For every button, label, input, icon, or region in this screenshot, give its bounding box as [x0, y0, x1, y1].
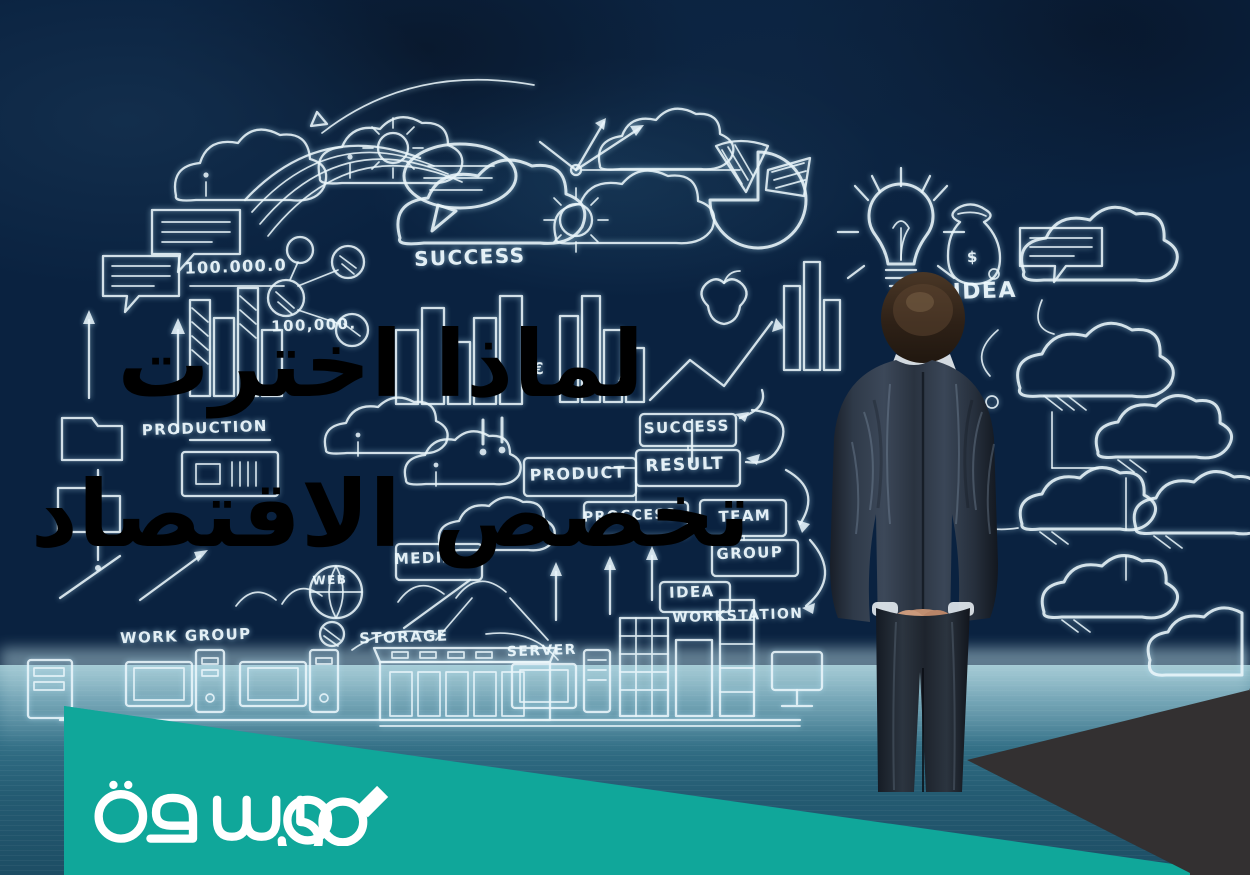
arrow-icon [311, 80, 534, 133]
cloud-icon [1022, 207, 1178, 334]
cloud-icon [1096, 396, 1231, 530]
arrow-icon [540, 118, 740, 175]
cloud-icon [439, 497, 555, 550]
flowchart-box-icon [58, 488, 120, 571]
doodle-label: PRODUCTION [142, 417, 269, 439]
speech-bubble-icon [404, 144, 516, 231]
desktop-computer-icon [240, 650, 338, 712]
logo-dot [124, 781, 132, 789]
doodle-label: WEB [312, 572, 347, 587]
cloud-icon [1134, 472, 1250, 548]
chalk-doodle-layer: SUCCESS100.000.0100,000.PRODUCTIONIDEASU… [0, 0, 1250, 875]
desktop-computer-icon [28, 660, 72, 718]
logo-dot [109, 781, 117, 789]
lightbulb-icon [838, 168, 964, 286]
logo-letter-seen [217, 800, 276, 837]
flowchart-box-icon [182, 440, 278, 496]
doodle-label: SUCCESS [644, 417, 731, 438]
speech-bubble-icon [103, 256, 179, 312]
rainbow-icon [245, 146, 462, 236]
doodle-label: 100.000.0 [184, 255, 287, 278]
doodle-label: PRODUCT [529, 462, 626, 484]
doodle-label: WORKSTATION [672, 606, 804, 627]
pie-chart-icon [710, 141, 810, 248]
cloud-icon [1042, 556, 1177, 632]
businessman-figure [812, 272, 1034, 792]
arrow-icon [83, 310, 95, 398]
doodle-label: WORK GROUP [120, 625, 252, 648]
desktop-computer-icon [126, 650, 224, 712]
doodle-label: RESULT [645, 454, 724, 477]
doodle-label: SUCCESS [414, 243, 526, 271]
cloud-icon [599, 109, 733, 170]
logo-letter-ta [99, 794, 143, 838]
doodle-label: SERVER [507, 642, 578, 660]
apple-icon [701, 271, 746, 324]
cloud-icon [175, 130, 326, 201]
cloud-icon [1148, 608, 1242, 675]
brand-logo[interactable] [82, 772, 397, 846]
logo-letter-ain [150, 798, 193, 839]
doodle-label: TEAM [718, 506, 771, 526]
sun-icon [544, 188, 608, 252]
doodle-label: STORAGE [359, 626, 449, 647]
sun-icon [363, 118, 423, 178]
doodle-label: 100,000. [271, 315, 357, 336]
promo-cover-canvas: SUCCESS100.000.0100,000.PRODUCTIONIDEASU… [0, 0, 1250, 875]
doodle-label: £ [617, 374, 628, 389]
arrow-icon [650, 318, 784, 400]
skyscraper-icon [396, 296, 522, 404]
doodle-label: GROUP [716, 543, 783, 563]
doodle-label: IDEA [669, 582, 715, 602]
bar-chart-icon [560, 296, 644, 402]
doodle-label: € [531, 359, 545, 378]
doodle-label: $ [967, 248, 979, 266]
doodle-label: MEDIA [394, 548, 456, 568]
doodle-label: ¥ [582, 372, 594, 388]
arrow-icon [171, 318, 185, 432]
doodle-label: PROCCESS [583, 506, 677, 525]
